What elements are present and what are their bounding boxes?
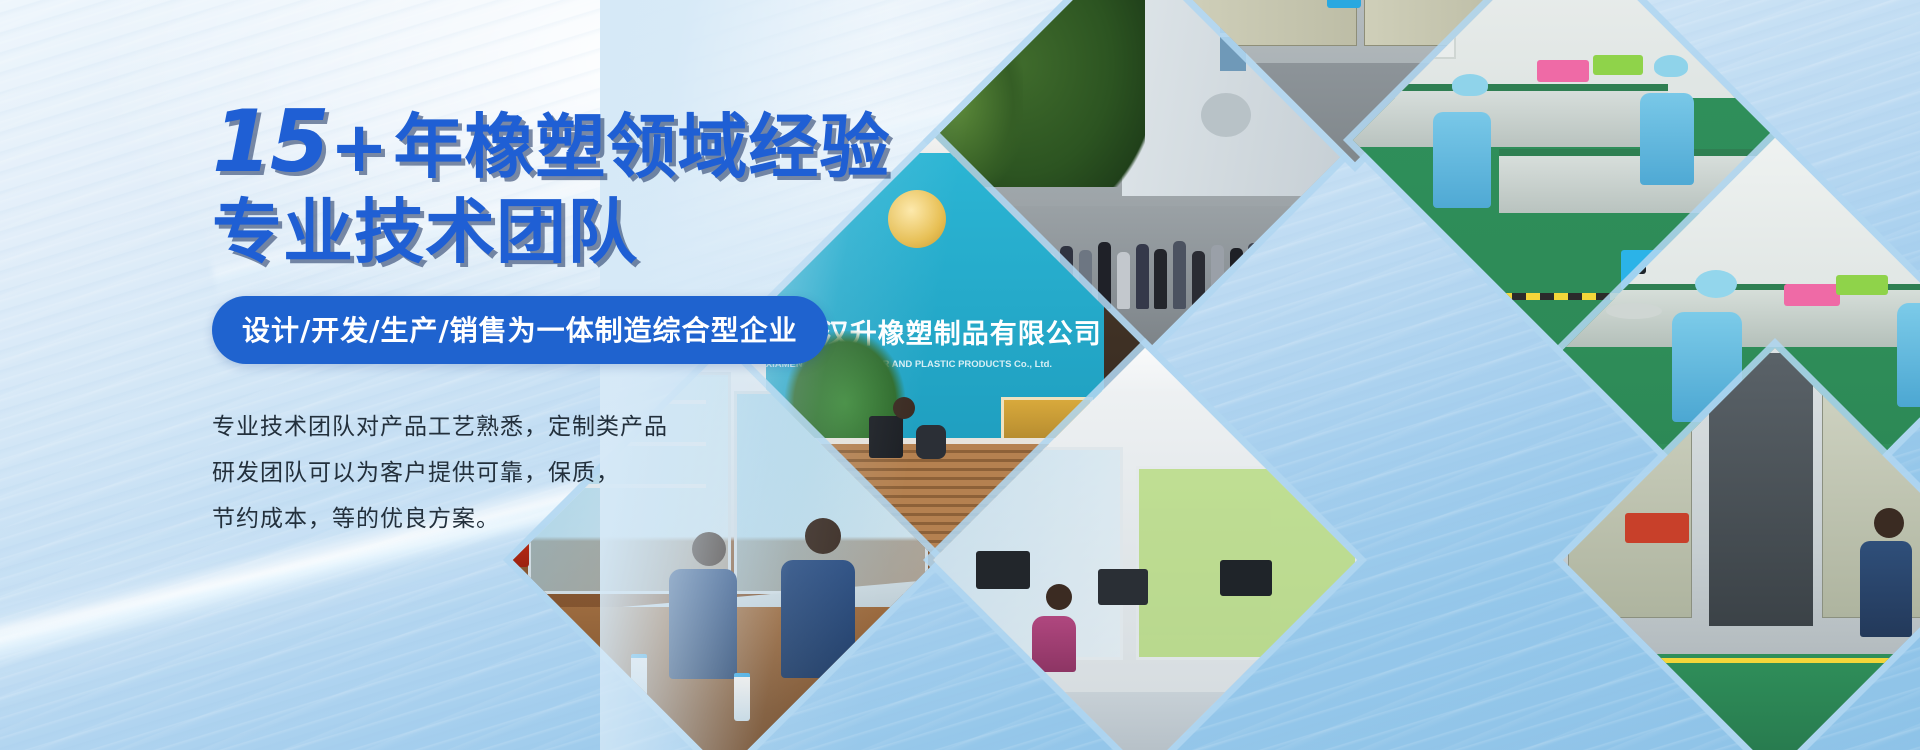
description-line-3: 节约成本，等的优良方案。 (212, 496, 972, 542)
tagline-pill[interactable]: 设计/开发/生产/销售为一体制造综合型企业 (212, 296, 828, 364)
description-line-1: 专业技术团队对产品工艺熟悉，定制类产品 (212, 404, 972, 450)
headline-line-2: 专业技术团队 (212, 195, 972, 271)
headline-line-1: 15+年橡塑领域经验 (212, 96, 972, 189)
description-paragraph: 专业技术团队对产品工艺熟悉，定制类产品 研发团队可以为客户提供可靠，保质， 节约… (212, 404, 972, 542)
promo-banner: 厦门汉升橡塑制品有限公司 XIAMEN HENSON RUBBER AND PL… (0, 0, 1920, 750)
banner-copy: 15+年橡塑领域经验 专业技术团队 设计/开发/生产/销售为一体制造综合型企业 … (212, 96, 972, 542)
inspection-zone-sign (1813, 143, 1877, 173)
headline-line-1-text: 年橡塑领域经验 (393, 106, 890, 188)
description-line-2: 研发团队可以为客户提供可靠，保质， (212, 450, 972, 496)
headline-number: 15 (212, 92, 328, 192)
headline-plus: + (330, 106, 390, 188)
